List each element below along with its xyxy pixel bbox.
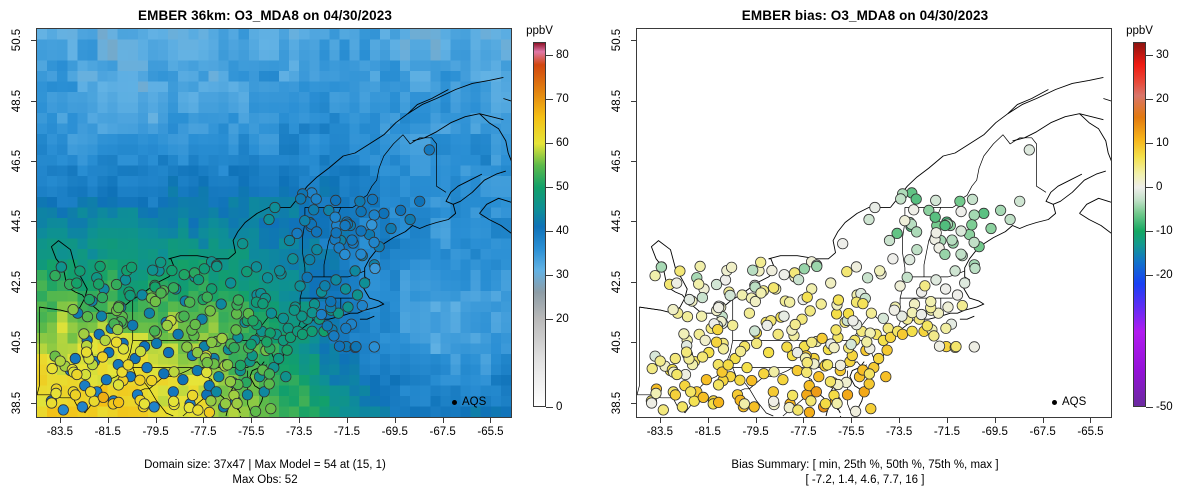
station-marker: [769, 367, 779, 377]
station-marker: [311, 227, 321, 237]
station-marker: [225, 377, 235, 387]
xtick-label: -79.5: [742, 426, 768, 438]
ytick-label: 42.5: [604, 274, 630, 290]
station-marker: [878, 313, 888, 323]
station-marker: [957, 300, 967, 310]
station-marker: [787, 390, 797, 400]
station-marker: [281, 372, 291, 382]
station-marker: [934, 341, 944, 351]
station-marker: [212, 261, 222, 271]
colorbar-tick-label: 0: [556, 401, 562, 413]
station-marker: [816, 299, 826, 309]
station-marker: [233, 295, 243, 305]
xtick-mark: [108, 418, 109, 423]
xtick-mark: [1043, 418, 1044, 423]
station-marker: [150, 326, 160, 336]
station-marker: [916, 309, 926, 319]
xtick-mark: [156, 418, 157, 423]
station-marker: [969, 342, 979, 352]
station-marker: [995, 205, 1005, 215]
aqs-legend-model: AQS: [452, 396, 486, 408]
ytick-label: 40.5: [604, 334, 630, 350]
station-marker: [759, 369, 769, 379]
station-marker: [679, 329, 689, 339]
colorbar-tick-label: 20: [556, 313, 569, 325]
station-marker: [139, 399, 149, 409]
station-marker: [650, 271, 660, 281]
colorbar-tick-label: 80: [556, 49, 569, 61]
station-marker: [424, 145, 434, 155]
ytick-mark: [31, 161, 36, 162]
station-marker: [681, 347, 691, 357]
station-marker: [369, 237, 379, 247]
station-marker: [250, 406, 260, 416]
station-marker: [905, 255, 915, 265]
station-marker: [156, 288, 166, 298]
station-marker: [307, 308, 317, 318]
station-marker: [986, 223, 996, 233]
station-marker: [814, 372, 824, 382]
station-marker: [125, 290, 135, 300]
aqs-legend-label: AQS: [462, 396, 486, 408]
station-marker: [793, 405, 803, 415]
xtick-mark: [347, 418, 348, 423]
station-marker: [270, 202, 280, 212]
station-marker: [370, 263, 380, 273]
station-marker: [940, 220, 950, 230]
station-marker: [357, 300, 367, 310]
station-marker: [101, 375, 111, 385]
station-marker: [302, 272, 312, 282]
colorbar-tick: [1146, 55, 1153, 56]
station-marker: [113, 380, 123, 390]
xtick-mark: [490, 418, 491, 423]
station-marker: [70, 390, 80, 400]
station-marker: [655, 356, 665, 366]
ytick-label: 38.5: [4, 395, 30, 411]
station-marker: [779, 270, 789, 280]
station-marker: [173, 329, 183, 339]
xtick-mark: [395, 418, 396, 423]
colorbar-tick: [546, 275, 553, 276]
station-marker: [367, 194, 377, 204]
xtick-mark: [995, 418, 996, 423]
station-marker: [185, 297, 195, 307]
station-marker: [113, 324, 123, 334]
aqs-legend-bias: AQS: [1052, 396, 1086, 408]
station-marker: [700, 335, 710, 345]
station-marker: [698, 392, 708, 402]
xtick-mark: [708, 418, 709, 423]
station-marker: [756, 288, 766, 298]
xtick-mark: [299, 418, 300, 423]
station-marker: [778, 375, 788, 385]
map-overlay-bias: [637, 29, 1112, 418]
station-marker: [242, 390, 252, 400]
colorbar-tick-label: 10: [1156, 137, 1169, 149]
station-marker: [725, 290, 735, 300]
ytick-label: 44.5: [4, 213, 30, 229]
map-overlay-model: [37, 29, 512, 418]
xtick-label: -65.5: [1077, 426, 1103, 438]
xtick-mark: [251, 418, 252, 423]
xtick-mark: [899, 418, 900, 423]
station-marker: [264, 214, 274, 224]
station-marker: [862, 273, 872, 283]
colorbar-title: ppbV: [1126, 25, 1153, 37]
station-marker: [148, 265, 158, 275]
xtick-label: -71.5: [334, 426, 360, 438]
station-marker: [82, 312, 92, 322]
station-markers: [46, 145, 434, 418]
station-marker: [728, 320, 738, 330]
station-marker: [793, 275, 803, 285]
station-marker: [50, 271, 60, 281]
station-marker: [100, 335, 110, 345]
station-marker: [747, 375, 757, 385]
station-marker: [825, 377, 835, 387]
station-marker: [192, 365, 202, 375]
station-marker: [296, 194, 306, 204]
station-marker: [159, 369, 169, 379]
station-marker: [882, 345, 892, 355]
station-marker: [902, 272, 912, 282]
station-marker: [70, 353, 80, 363]
colorbar-tick-label: 20: [1156, 93, 1169, 105]
station-marker: [72, 369, 82, 379]
station-marker: [735, 375, 745, 385]
station-marker: [864, 214, 874, 224]
station-marker: [379, 208, 389, 218]
station-marker: [726, 262, 736, 272]
ytick-label: 50.5: [604, 32, 630, 48]
station-marker: [862, 337, 872, 347]
ytick-mark: [631, 40, 636, 41]
station-marker: [802, 357, 812, 367]
station-marker: [773, 329, 783, 339]
station-marker: [96, 311, 106, 321]
station-marker: [179, 270, 189, 280]
station-marker: [167, 265, 177, 275]
station-marker: [742, 362, 752, 372]
caption-line-2: Max Obs: 52: [0, 473, 530, 487]
station-marker: [900, 216, 910, 226]
colorbar-tick-label: -50: [1156, 401, 1173, 413]
station-marker: [744, 308, 754, 318]
panel-title-bias: EMBER bias: O3_MDA8 on 04/30/2023: [600, 8, 1130, 24]
station-marker: [204, 407, 214, 417]
xtick-label: -79.5: [142, 426, 168, 438]
station-marker: [779, 311, 789, 321]
station-marker: [340, 220, 350, 230]
station-marker: [767, 265, 777, 275]
colorbar-tick-label: -10: [1156, 225, 1173, 237]
station-marker: [967, 194, 977, 204]
xtick-mark: [660, 418, 661, 423]
plot-area-model: [36, 28, 512, 418]
station-marker: [817, 333, 827, 343]
station-marker: [842, 390, 852, 400]
station-marker: [686, 387, 696, 397]
station-marker: [46, 398, 56, 408]
station-marker: [920, 281, 930, 291]
station-marker: [178, 375, 188, 385]
station-marker: [956, 226, 966, 236]
station-marker: [222, 360, 232, 370]
colorbar-tick: [546, 187, 553, 188]
station-marker: [126, 262, 136, 272]
station-marker: [97, 292, 107, 302]
station-marker: [943, 302, 953, 312]
station-marker: [967, 220, 977, 230]
colorbar-tick: [1146, 231, 1153, 232]
aqs-legend-dot: [1052, 400, 1057, 405]
station-marker: [229, 343, 239, 353]
station-marker: [356, 249, 366, 259]
station-marker: [713, 380, 723, 390]
station-marker: [931, 195, 941, 205]
station-marker: [711, 337, 721, 347]
station-marker: [262, 273, 272, 283]
station-marker: [207, 337, 217, 347]
station-marker: [723, 360, 733, 370]
colorbar-tick-label: 60: [556, 137, 569, 149]
colorbar-tick: [546, 407, 553, 408]
station-marker: [264, 379, 274, 389]
station-marker: [864, 379, 874, 389]
ytick-label: 48.5: [4, 93, 30, 109]
station-marker: [858, 299, 868, 309]
station-marker: [415, 196, 425, 206]
ytick-label: 46.5: [604, 153, 630, 169]
station-marker: [289, 305, 299, 315]
station-marker: [822, 360, 832, 370]
station-marker: [355, 196, 365, 206]
station-marker: [278, 313, 288, 323]
station-marker: [79, 329, 89, 339]
station-marker: [895, 281, 905, 291]
station-marker: [295, 281, 305, 291]
station-marker: [55, 356, 65, 366]
station-marker: [316, 309, 326, 319]
station-marker: [251, 262, 261, 272]
station-marker: [235, 360, 245, 370]
station-marker: [802, 292, 812, 302]
station-marker: [768, 396, 778, 406]
station-marker: [851, 262, 861, 272]
station-marker: [881, 372, 891, 382]
station-marker: [284, 235, 294, 245]
station-marker: [883, 323, 893, 333]
colorbar-tick-label: 50: [556, 181, 569, 193]
ytick-mark: [31, 221, 36, 222]
station-marker: [360, 278, 370, 288]
station-marker: [907, 308, 917, 318]
station-marker: [940, 249, 950, 259]
station-marker: [199, 264, 209, 274]
xtick-mark: [756, 418, 757, 423]
station-marker: [56, 262, 66, 272]
ytick-label: 38.5: [604, 395, 630, 411]
ytick-label: 46.5: [4, 153, 30, 169]
station-marker: [58, 405, 68, 415]
station-marker: [77, 402, 87, 412]
station-marker: [352, 290, 362, 300]
station-marker: [922, 321, 932, 331]
ytick-mark: [31, 403, 36, 404]
station-marker: [95, 261, 105, 271]
station-marker: [909, 205, 919, 215]
station-marker: [884, 235, 894, 245]
colorbar-tick: [1146, 187, 1153, 188]
station-marker: [749, 402, 759, 412]
colorbar-gradient: [1133, 42, 1146, 407]
colorbar-tick-label: 30: [556, 269, 569, 281]
station-marker: [187, 390, 197, 400]
station-marker: [97, 352, 107, 362]
station-marker: [369, 210, 379, 220]
station-marker: [804, 407, 814, 417]
station-marker: [356, 226, 366, 236]
station-marker: [829, 343, 839, 353]
station-marker: [713, 324, 723, 334]
station-marker: [144, 308, 154, 318]
station-marker: [347, 235, 357, 245]
xtick-label: -65.5: [477, 426, 503, 438]
station-marker: [179, 311, 189, 321]
station-marker: [896, 194, 906, 204]
station-marker: [168, 396, 178, 406]
station-marker: [748, 265, 758, 275]
xtick-mark: [947, 418, 948, 423]
station-marker: [214, 372, 224, 382]
ytick-mark: [631, 282, 636, 283]
xtick-mark: [851, 418, 852, 423]
station-marker: [782, 342, 792, 352]
station-marker: [850, 406, 860, 416]
station-marker: [264, 369, 274, 379]
station-marker: [202, 367, 212, 377]
station-marker: [940, 284, 950, 294]
xtick-label: -69.5: [982, 426, 1008, 438]
station-marker: [768, 283, 778, 293]
station-marker: [242, 267, 252, 277]
station-marker: [211, 387, 221, 397]
ytick-mark: [631, 161, 636, 162]
xtick-label: -73.5: [286, 426, 312, 438]
caption-line-1: Domain size: 37x47 | Max Model = 54 at (…: [0, 458, 530, 472]
panel-model: EMBER 36km: O3_MDA8 on 04/30/2023AQS-83.…: [0, 0, 600, 502]
station-marker: [94, 279, 104, 289]
station-marker: [216, 299, 226, 309]
station-marker: [651, 388, 661, 398]
colorbar-tick: [1146, 407, 1153, 408]
caption-line-2: [ -7.2, 1.4, 4.6, 7.7, 16 ]: [600, 473, 1130, 487]
station-marker: [190, 319, 200, 329]
ytick-mark: [31, 101, 36, 102]
station-marker: [84, 294, 94, 304]
station-marker: [169, 367, 179, 377]
station-marker: [792, 365, 802, 375]
station-marker: [911, 194, 921, 204]
ytick-mark: [631, 342, 636, 343]
station-marker: [51, 388, 61, 398]
station-marker: [956, 249, 966, 259]
station-marker: [1005, 214, 1015, 224]
station-marker: [330, 212, 340, 222]
station-marker: [955, 196, 965, 206]
panel-bias: EMBER bias: O3_MDA8 on 04/30/2023AQS-83.…: [600, 0, 1200, 502]
station-marker: [951, 341, 961, 351]
station-marker: [395, 205, 405, 215]
station-marker: [147, 375, 157, 385]
station-marker: [331, 195, 341, 205]
station-marker: [875, 266, 885, 276]
ytick-mark: [631, 221, 636, 222]
station-marker: [756, 257, 766, 267]
station-marker: [341, 323, 351, 333]
xtick-label: -73.5: [886, 426, 912, 438]
station-marker: [311, 194, 321, 204]
station-marker: [646, 398, 656, 408]
station-marker: [768, 387, 778, 397]
station-marker: [668, 304, 678, 314]
station-marker: [713, 302, 723, 312]
plot-area-bias: [636, 28, 1112, 418]
ytick-label: 40.5: [4, 334, 30, 350]
station-marker: [889, 305, 899, 315]
station-marker: [790, 319, 800, 329]
station-marker: [763, 347, 773, 357]
station-marker: [701, 375, 711, 385]
station-marker: [931, 275, 941, 285]
station-marker: [866, 308, 876, 318]
station-marker: [677, 402, 687, 412]
ytick-mark: [31, 282, 36, 283]
station-marker: [312, 245, 322, 255]
station-marker: [405, 214, 415, 224]
ytick-label: 50.5: [4, 32, 30, 48]
station-marker: [846, 339, 856, 349]
aqs-legend-label: AQS: [1062, 396, 1086, 408]
xtick-label: -83.5: [647, 426, 673, 438]
station-marker: [762, 320, 772, 330]
station-marker: [1024, 145, 1034, 155]
colorbar-gradient: [533, 42, 546, 407]
station-marker: [835, 360, 845, 370]
station-marker: [785, 297, 795, 307]
ytick-mark: [31, 342, 36, 343]
station-marker: [682, 312, 692, 322]
colorbar-model: ppbV020304050607080: [533, 42, 546, 407]
colorbar-tick-label: 30: [1156, 49, 1169, 61]
ytick-mark: [31, 40, 36, 41]
station-marker: [864, 369, 874, 379]
station-marker: [350, 266, 360, 276]
station-marker: [81, 347, 91, 357]
station-marker: [960, 278, 970, 288]
colorbar-tick: [546, 231, 553, 232]
station-marker: [848, 316, 858, 326]
station-marker: [873, 353, 883, 363]
station-marker: [711, 279, 721, 289]
station-marker: [826, 278, 836, 288]
station-marker: [931, 228, 941, 238]
station-marker: [331, 228, 341, 238]
station-marker: [135, 346, 145, 356]
xtick-label: -83.5: [47, 426, 73, 438]
station-marker: [193, 405, 203, 415]
